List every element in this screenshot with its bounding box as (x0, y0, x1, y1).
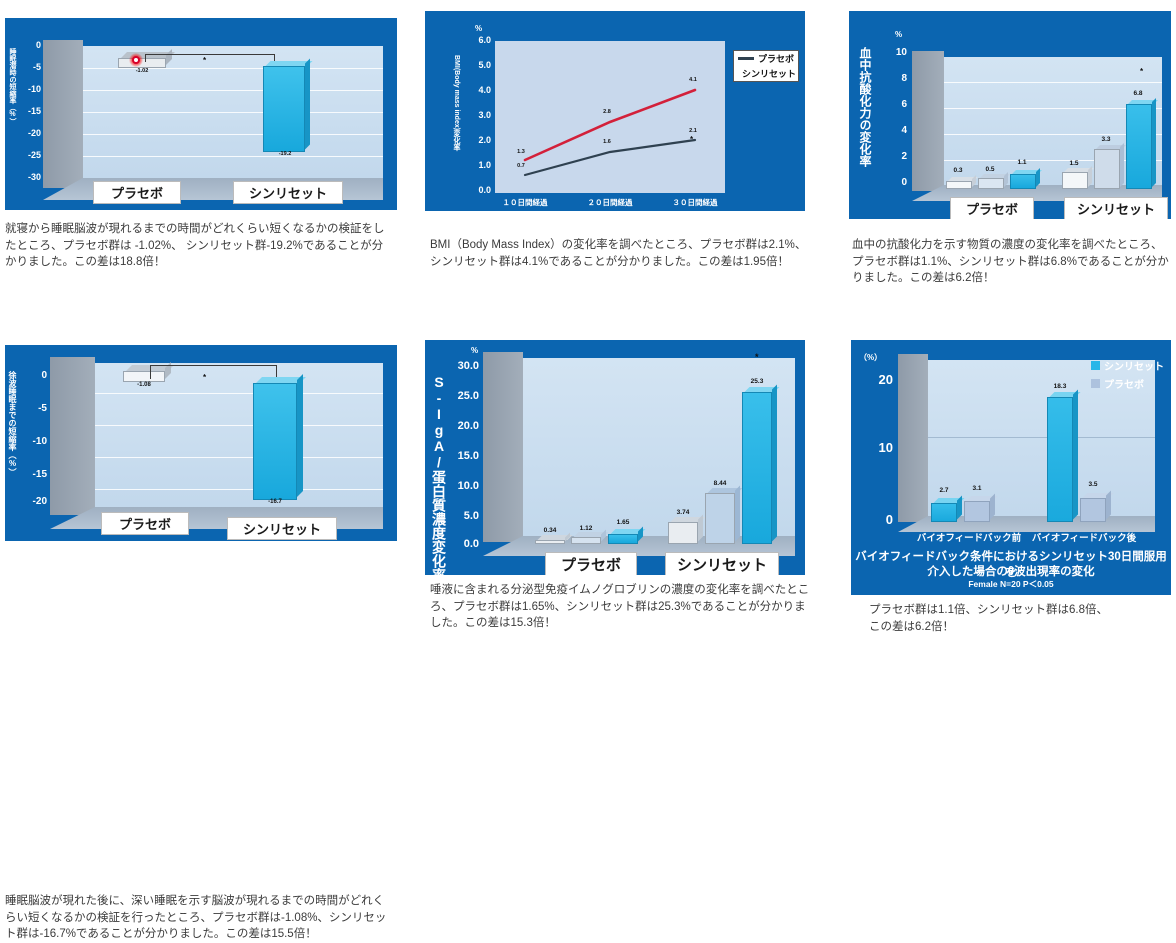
chart1-ytick-2: -10 (15, 84, 41, 94)
chart2-ytick-5: 1.0 (459, 160, 491, 170)
chart6-legend-label-shinriset: シンリセット (1104, 358, 1164, 373)
chart5-unit: % (471, 346, 478, 355)
chart2-ytick-0: 6.0 (459, 35, 491, 45)
chart2-label-shinriset-30: 4.1 (681, 77, 705, 83)
chart4-sidewall (50, 357, 95, 515)
chart3-ytick-5: 0 (883, 177, 907, 188)
chart1-significance-star: * (203, 56, 206, 65)
chart6-label-post-placebo: 3.5 (1077, 481, 1109, 488)
chart5-sidewall (483, 352, 523, 542)
chart5-label-1: 1.12 (567, 525, 605, 532)
chart3-ytick-4: 2 (883, 151, 907, 162)
chart6-legend-item-shinriset: シンリセット (1091, 358, 1164, 373)
chart5-bar-4 (705, 493, 735, 544)
chart6-ytick-1: 10 (857, 440, 893, 455)
chart6-legend: シンリセット プラセボ (1091, 358, 1164, 391)
chart5-group-label-placebo: プラセボ (545, 552, 637, 575)
chart5-significance-star: * (755, 352, 759, 362)
chart1-group-label-placebo: プラセボ (93, 181, 181, 204)
chart6-unit: （%） (859, 352, 882, 363)
chart3-bar-3 (1062, 172, 1088, 189)
chart3-group-label-placebo: プラセボ (950, 197, 1034, 219)
chart-s-iga: % S-IgA/蛋白質濃度変化率 30.0 25.0 20.0 15.0 10.… (425, 340, 805, 575)
chart5-label-5: 25.3 (738, 378, 776, 385)
chart1-sidewall (43, 40, 83, 188)
chart2-label-placebo-20: 1.6 (595, 139, 619, 145)
chart6-legend-swatch-shinriset (1091, 361, 1100, 370)
chart-theta-wave-biofeedback: （%） 20 10 0 2.7 3.1 (851, 340, 1171, 595)
chart2-legend-item-placebo: プラセボ (734, 51, 798, 66)
chart2-label-placebo-30: 2.1 (681, 128, 705, 134)
chart1-ytick-0: 0 (15, 40, 41, 50)
chart6-label-pre-placebo: 3.1 (961, 485, 993, 492)
chart3-label-4: 3.3 (1091, 136, 1121, 143)
chart6-legend-label-placebo: プラセボ (1104, 376, 1144, 391)
chart5-bar-5 (742, 392, 772, 544)
chart3-bar-0 (946, 181, 972, 189)
chart1-caption: 就寝から睡眠脳波が現れるまでの時間がどれくらい短くなるかの検証をしたところ、プラ… (5, 221, 385, 271)
chart6-subtitle: Female N=20 P＜0.05 (851, 578, 1171, 590)
chart3-bar-5 (1126, 104, 1152, 189)
chart4-ytick-2: -10 (19, 436, 47, 447)
chart-bmi-change-rate: % BMI(Body mass index)変化率 6.0 5.0 4.0 3.… (425, 11, 805, 211)
chart1-ytick-1: -5 (15, 62, 41, 72)
chart4-group-label-shinriset: シンリセット (227, 517, 337, 540)
chart5-ytick-0: 30.0 (439, 360, 479, 372)
chart2-label-placebo-10: 0.7 (509, 163, 533, 169)
chart4-significance-bracket (150, 365, 277, 379)
chart2-series-svg (495, 41, 725, 193)
chart2-ytick-1: 5.0 (459, 60, 491, 70)
chart2-label-shinriset-20: 2.8 (595, 109, 619, 115)
chart3-bar-1 (978, 178, 1004, 189)
chart2-legend-label-shinriset: シンリセット (742, 67, 796, 80)
chart1-ytick-4: -20 (15, 128, 41, 138)
chart2-legend-swatch-placebo (738, 57, 754, 60)
chart6-sidewall (898, 354, 928, 522)
chart6-xtick-0: バイオフィードバック前 (911, 530, 1027, 544)
chart2-legend: プラセボ シンリセット (733, 50, 799, 82)
chart3-ytick-3: 4 (883, 125, 907, 136)
chart1-group-label-shinriset: シンリセット (233, 181, 343, 204)
infographic-page: 睡眠潜時の短縮率（%） 0 -5 -10 -15 -20 -25 -30 -1.… (0, 0, 1176, 656)
chart3-ytick-0: 10 (883, 47, 907, 58)
chart1-ytick-6: -30 (15, 172, 41, 182)
chart6-ytick-0: 20 (857, 372, 893, 387)
chart3-label-3: 1.5 (1059, 160, 1089, 167)
chart5-ytick-4: 10.0 (439, 480, 479, 492)
chart6-bar-pre-shinriset (931, 503, 957, 522)
chart3-label-2: 1.1 (1007, 159, 1037, 166)
chart2-xtick-0: １０日間経過 (487, 197, 563, 208)
chart6-bar-post-placebo (1080, 498, 1106, 522)
chart3-bar-4 (1094, 149, 1120, 189)
chart3-ylabel: 血中抗酸化力の変化率 (857, 47, 874, 195)
chart2-label-shinriset-10: 1.3 (509, 149, 533, 155)
chart6-bar-pre-placebo (964, 501, 990, 522)
chart6-xtick-1: バイオフィードバック後 (1026, 530, 1142, 544)
chart5-ytick-1: 25.0 (439, 390, 479, 402)
chart5-group-label-shinriset: シンリセット (665, 552, 779, 575)
chart3-sidewall (912, 51, 944, 191)
chart6-ytick-2: 0 (857, 512, 893, 527)
chart1-bar-shinriset (263, 66, 305, 152)
chart3-ytick-2: 6 (883, 99, 907, 110)
chart5-label-2: 1.65 (604, 519, 642, 526)
chart6-label-post-shinriset: 18.3 (1044, 383, 1076, 390)
chart3-label-1: 0.5 (975, 166, 1005, 173)
chart-blood-antioxidant: % 血中抗酸化力の変化率 10 8 6 4 2 0 0.3 (849, 11, 1171, 219)
chart4-group-label-placebo: プラセボ (101, 512, 189, 535)
chart5-bar-2 (608, 534, 638, 544)
chart5-bar-3 (668, 522, 698, 544)
chart1-label-placebo: -1.02 (115, 68, 169, 74)
chart5-label-3: 3.74 (664, 509, 702, 516)
chart6-legend-item-placebo: プラセボ (1091, 376, 1164, 391)
chart2-ytick-2: 4.0 (459, 85, 491, 95)
chart4-ytick-0: 0 (19, 370, 47, 381)
chart2-ytick-3: 3.0 (459, 110, 491, 120)
chart3-bar-2 (1010, 174, 1036, 189)
chart2-caption: BMI（Body Mass Index）の変化率を調べたところ、プラセボ群は2.… (430, 237, 810, 270)
chart1-significance-bracket (145, 54, 275, 62)
chart4-caption: 睡眠脳波が現れた後に、深い睡眠を示す脳波が現れるまでの時間がどれくらい短くなるか… (5, 893, 387, 943)
chart6-label-pre-shinriset: 2.7 (928, 487, 960, 494)
chart4-ytick-1: -5 (19, 403, 47, 414)
chart4-label-shinriset: -16.7 (249, 499, 301, 505)
chart3-significance-star: * (1140, 67, 1143, 76)
chart1-label-shinriset: -19.2 (259, 151, 311, 157)
chart2-xtick-1: ２０日間経過 (572, 197, 648, 208)
chart2-ytick-4: 2.0 (459, 135, 491, 145)
chart-sleep-onset-latency: 睡眠潜時の短縮率（%） 0 -5 -10 -15 -20 -25 -30 -1.… (5, 18, 397, 210)
chart5-ytick-2: 20.0 (439, 420, 479, 432)
chart5-label-4: 8.44 (701, 480, 739, 487)
chart6-title-line2: 介入した場合のθ波出現率の変化 (851, 563, 1171, 579)
chart4-significance-star: * (203, 373, 206, 382)
chart-deep-sleep-latency: 徐波睡眠までの短縮率（%） 0 -5 -10 -15 -20 -1.08 * (5, 345, 397, 541)
chart3-unit: % (895, 30, 902, 39)
chart6-bar-post-shinriset (1047, 397, 1073, 522)
chart3-label-0: 0.3 (943, 167, 973, 174)
chart4-label-placebo: -1.08 (119, 382, 169, 388)
chart3-label-5: 6.8 (1123, 90, 1153, 97)
chart2-legend-item-shinriset: シンリセット (734, 66, 798, 81)
chart4-ylabel: 徐波睡眠までの短縮率（%） (7, 371, 18, 521)
chart5-ytick-5: 5.0 (439, 510, 479, 522)
chart4-ytick-3: -15 (19, 469, 47, 480)
chart1-ytick-5: -25 (15, 150, 41, 160)
chart5-ytick-3: 15.0 (439, 450, 479, 462)
chart4-ytick-4: -20 (19, 496, 47, 507)
chart2-xtick-2: ３０日間経過 (657, 197, 733, 208)
chart2-legend-label-placebo: プラセボ (758, 52, 794, 65)
chart2-ytick-6: 0.0 (459, 185, 491, 195)
chart3-group-label-shinriset: シンリセット (1064, 197, 1168, 219)
chart1-ytick-3: -15 (15, 106, 41, 116)
chart6-legend-swatch-placebo (1091, 379, 1100, 388)
chart3-ytick-1: 8 (883, 73, 907, 84)
chart3-caption: 血中の抗酸化力を示す物質の濃度の変化率を調べたところ、プラセボ群は1.1%、シン… (852, 237, 1172, 287)
chart5-caption: 唾液に含まれる分泌型免疫イムノグロブリンの濃度の変化率を調べたところ、プラセボ群… (430, 582, 810, 632)
chart2-unit: % (475, 24, 482, 33)
chart5-bar-0 (535, 540, 565, 544)
chart6-caption: プラセボ群は1.1倍、シンリセット群は6.8倍、 この差は6.2倍！ (869, 602, 1169, 635)
chart5-ytick-6: 0.0 (439, 538, 479, 550)
chart1-highlight-ring (132, 56, 140, 64)
chart2-significance-star: * (690, 135, 693, 144)
chart5-bar-1 (571, 537, 601, 544)
chart5-label-0: 0.34 (531, 527, 569, 534)
chart4-bar-shinriset (253, 383, 297, 500)
